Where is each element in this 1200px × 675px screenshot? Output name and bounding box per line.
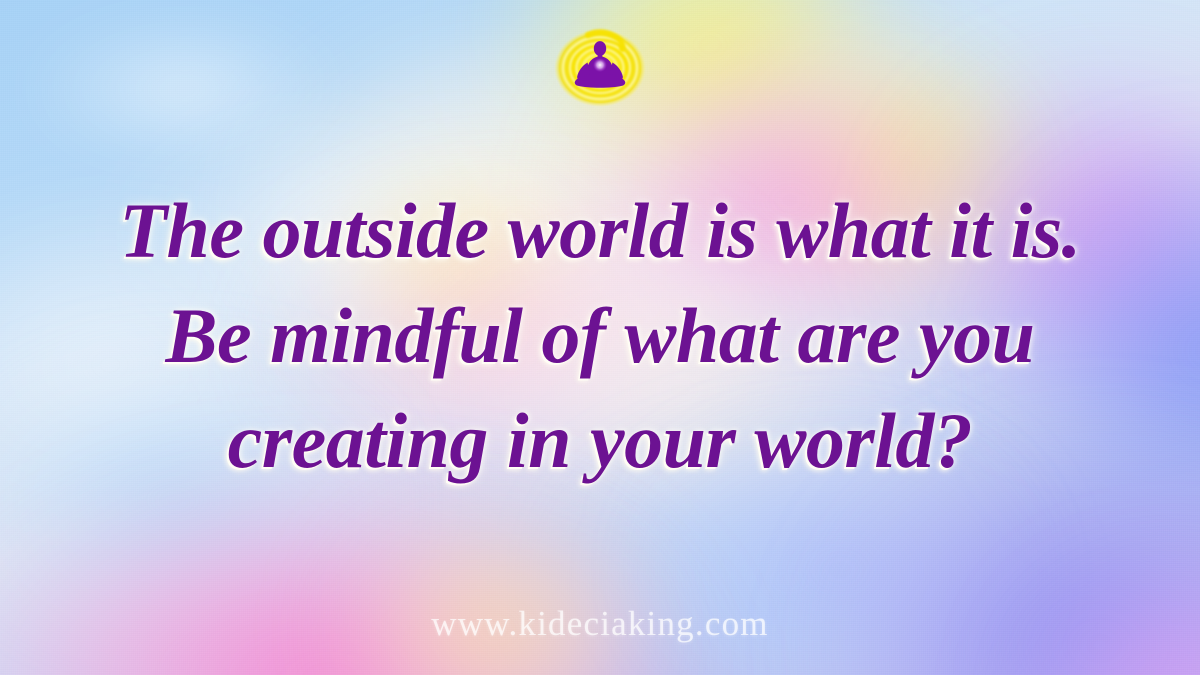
meditation-aura-logo bbox=[546, 22, 654, 114]
cloud-blob-white-top-left bbox=[20, 10, 350, 170]
quote-card: The outside world is what it is. Be mind… bbox=[0, 0, 1200, 675]
quote-line-2: Be mindful of what are you bbox=[28, 283, 1172, 388]
quote-line-1: The outside world is what it is. bbox=[28, 178, 1172, 283]
cloud-blob-peach-bottom bbox=[330, 505, 660, 675]
cloud-blob-pink-bottom-left bbox=[0, 470, 720, 675]
heart-glow-icon bbox=[593, 58, 607, 72]
website-url-watermark: www.kideciaking.com bbox=[0, 604, 1200, 644]
quote-line-3: creating in your world? bbox=[28, 388, 1172, 493]
quote-text-block: The outside world is what it is. Be mind… bbox=[0, 178, 1200, 493]
